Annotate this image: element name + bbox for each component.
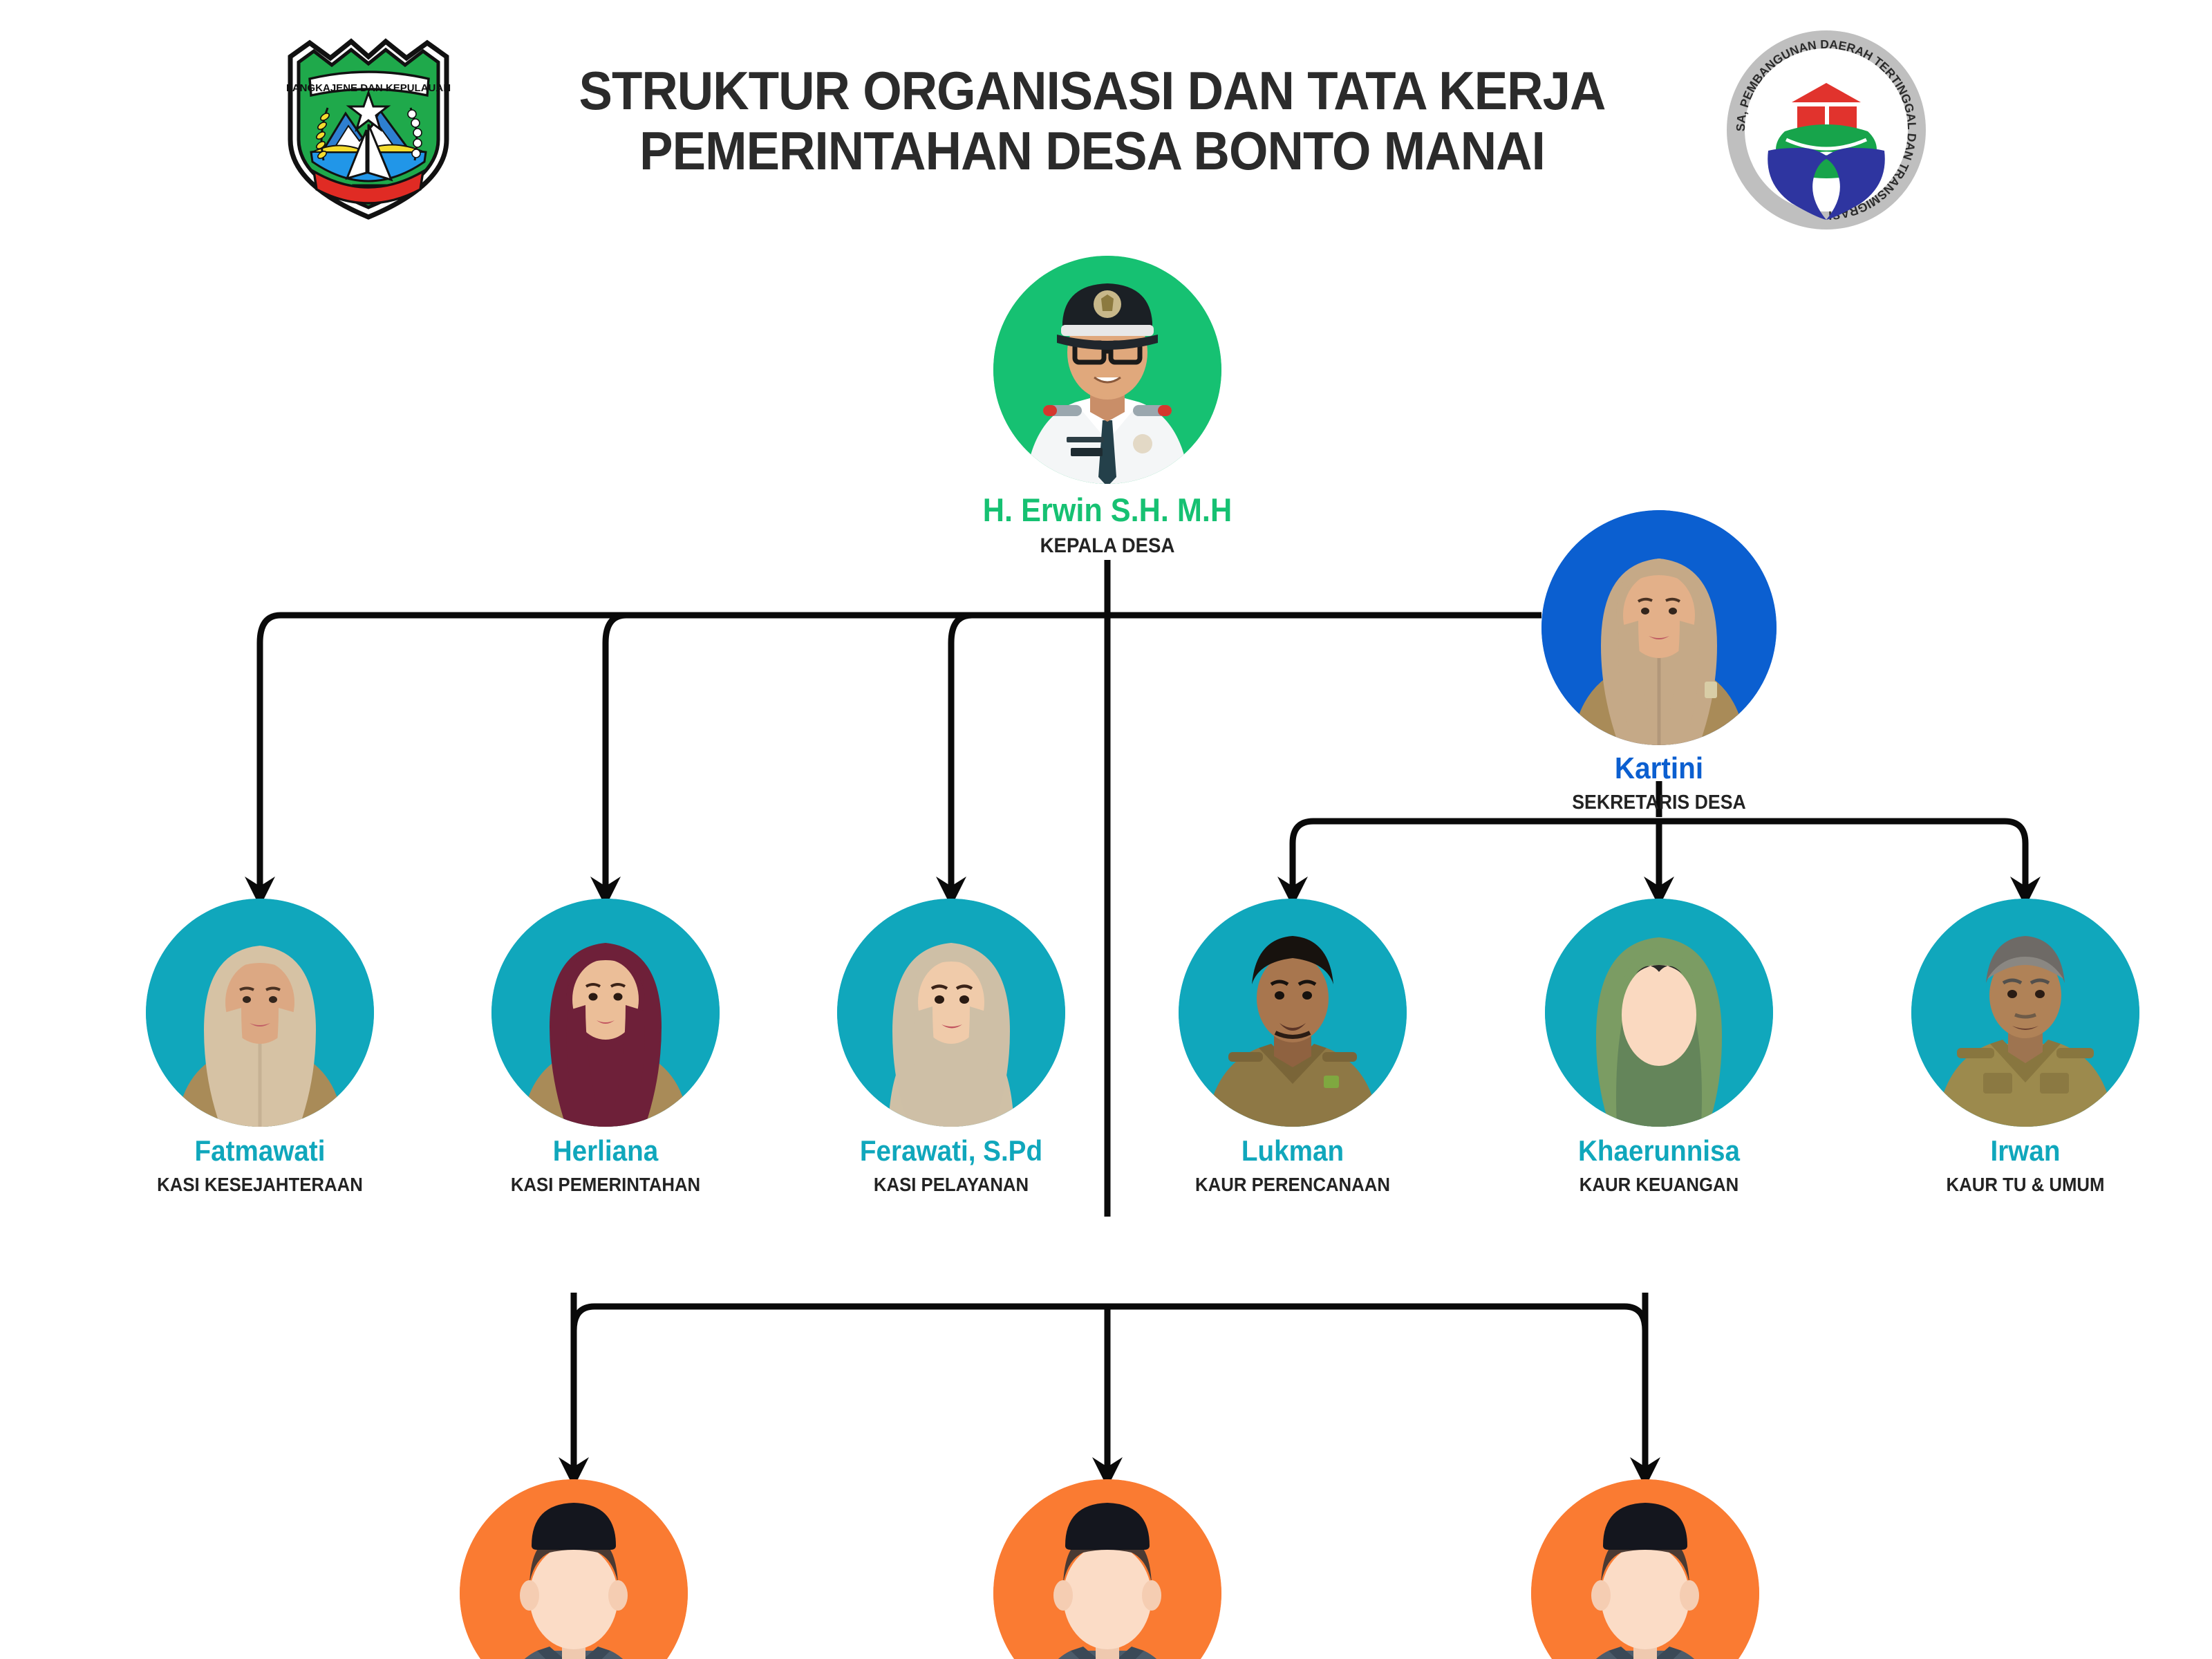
- photo-abdul-rahman: [1531, 1479, 1759, 1659]
- photo-kepala-desa: [993, 256, 1221, 484]
- node-kaur-keuangan[interactable]: Khaerunnisa KAUR KEUANGAN: [1514, 899, 1804, 1194]
- photo-jamaluddin: [460, 1479, 688, 1659]
- branch-to-fatmawati: [260, 615, 281, 847]
- node-kasi-pelayanan[interactable]: Ferawati, S.Pd KASI PELAYANAN: [806, 899, 1096, 1194]
- node-role-herliana: KASI PEMERINTAHAN: [472, 1175, 739, 1194]
- node-role-sekretaris-desa: SEKRETARIS DESA: [1522, 793, 1796, 813]
- page-title: STRUKTUR ORGANISASI DAN TATA KERJA PEMER…: [484, 61, 1700, 182]
- title-line-1: STRUKTUR ORGANISASI DAN TATA KERJA: [527, 61, 1658, 121]
- photo-herliana: [491, 899, 720, 1127]
- left-emblem-banner-text: PANGKAJENE DAN KEPULAUAN: [286, 82, 451, 94]
- node-name-ferawati: Ferawati, S.Pd: [818, 1136, 1085, 1165]
- branch-to-lukman-corner: [1293, 821, 1313, 847]
- node-role-kepala-desa: KEPALA DESA: [955, 536, 1260, 556]
- node-role-fatmawati: KASI KESEJAHTERAAN: [126, 1175, 393, 1194]
- photo-ferawati: [837, 899, 1065, 1127]
- node-role-irwan: KAUR TU & UMUM: [1892, 1175, 2159, 1194]
- node-name-fatmawati: Fatmawati: [126, 1136, 393, 1165]
- photo-khaerul-akram: [993, 1479, 1221, 1659]
- photo-irwan: [1911, 899, 2139, 1127]
- photo-fatmawati: [146, 899, 374, 1127]
- node-name-sekretaris-desa: Kartini: [1522, 753, 1796, 784]
- branch-to-ferawati: [951, 615, 972, 847]
- node-kepala-dusun-binangatoa[interactable]: Abdul Rahman KEPALA DUSUN BINANGATOA: [1486, 1479, 1804, 1659]
- node-kasi-pemerintahan[interactable]: Herliana KASI PEMERINTAHAN: [460, 899, 751, 1194]
- node-name-herliana: Herliana: [472, 1136, 739, 1165]
- chart-header: PANGKAJENE DAN KEPULAUAN STRUKTUR ORGANI…: [0, 0, 2212, 235]
- photo-lukman: [1179, 899, 1407, 1127]
- connector-lines: [0, 0, 2212, 1659]
- pangkajene-dan-kepulauan-regency-emblem: PANGKAJENE DAN KEPULAUAN: [282, 36, 455, 223]
- node-role-ferawati: KASI PELAYANAN: [818, 1175, 1085, 1194]
- node-name-kepala-desa: H. Erwin S.H. M.H: [955, 494, 1260, 526]
- org-chart-canvas: PANGKAJENE DAN KEPULAUAN STRUKTUR ORGANI…: [0, 0, 2212, 1659]
- photo-sekretaris-desa: [1541, 510, 1777, 745]
- node-name-irwan: Irwan: [1892, 1136, 2159, 1165]
- node-kaur-tu-umum[interactable]: Irwan KAUR TU & UMUM: [1880, 899, 2171, 1194]
- node-kaur-perencanaan[interactable]: Lukman KAUR PERENCANAAN: [1147, 899, 1438, 1194]
- node-role-khaerunnisa: KAUR KEUANGAN: [1526, 1175, 1792, 1194]
- node-kepala-dusun-bontomanai[interactable]: Khaerul Akram KEPALA DUSUN BONTOMANAI: [948, 1479, 1266, 1659]
- node-sekretaris-desa[interactable]: Kartini SEKRETARIS DESA: [1510, 510, 1808, 813]
- kementerian-desa-pdtt-logo: KEMENTERIAN DESA, PEMBANGUNAN DAERAH TER…: [1725, 29, 1927, 231]
- branch-to-irwan-corner: [2005, 821, 2025, 847]
- branch-to-abdulrahman-corner: [1624, 1293, 1645, 1331]
- node-kepala-dusun-kabirisi[interactable]: H. Jamaluddin KEPALA DUSUN KABIRISI: [415, 1479, 733, 1659]
- node-name-lukman: Lukman: [1159, 1136, 1426, 1165]
- node-kepala-desa[interactable]: H. Erwin S.H. M.H KEPALA DESA: [941, 256, 1273, 556]
- node-kasi-kesejahteraan[interactable]: Fatmawati KASI KESEJAHTERAAN: [115, 899, 405, 1194]
- branch-to-jamaluddin-corner: [574, 1293, 594, 1331]
- title-line-2: PEMERINTAHAN DESA BONTO MANAI: [527, 121, 1658, 181]
- node-name-khaerunnisa: Khaerunnisa: [1526, 1136, 1792, 1165]
- branch-to-herliana: [606, 615, 626, 847]
- photo-khaerunnisa: [1545, 899, 1773, 1127]
- node-role-lukman: KAUR PERENCANAAN: [1159, 1175, 1426, 1194]
